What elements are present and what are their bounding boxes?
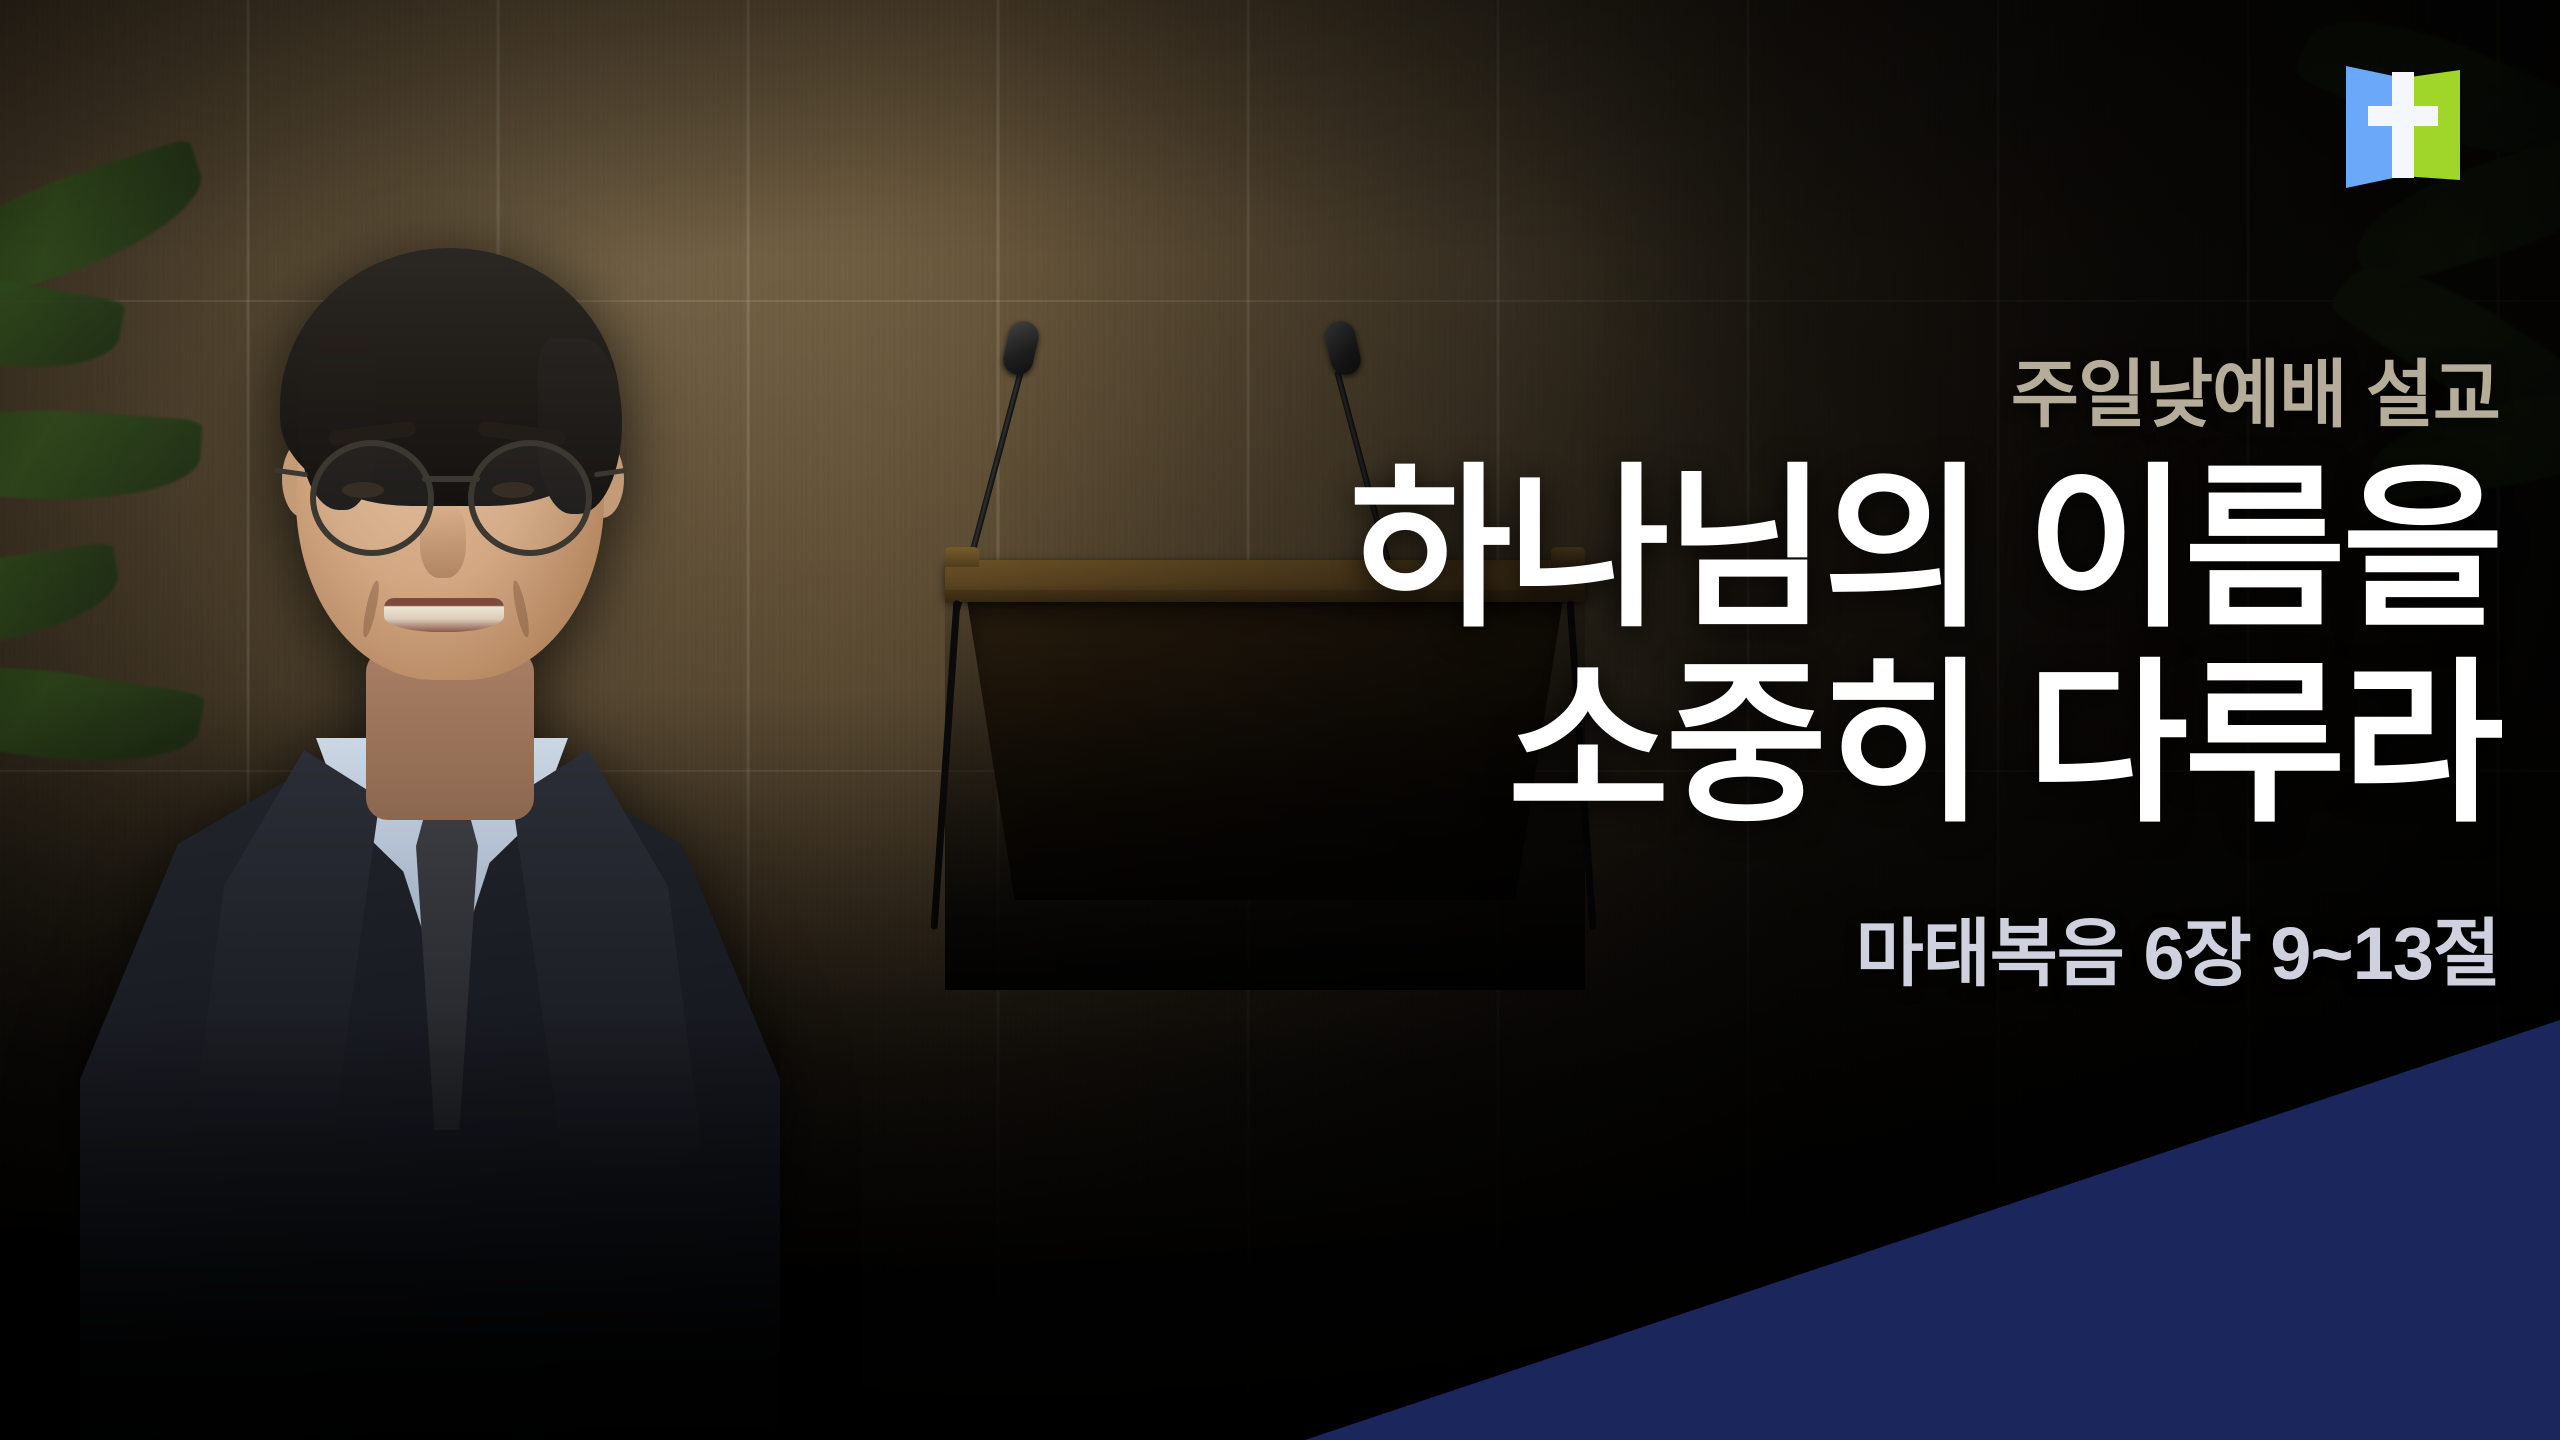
service-label: 주일낮예배 설교 bbox=[980, 356, 2500, 434]
open-bible-cross-logo[interactable] bbox=[2328, 48, 2478, 198]
bible-reference: 마태복음 6장 9~13절 bbox=[980, 894, 2500, 1001]
sermon-title-line-2: 소중히 다루라 bbox=[980, 655, 2500, 836]
sermon-thumbnail-canvas: 주일낮예배 설교 하나님의 이름을 소중히 다루라 마태복음 6장 9~13절 bbox=[0, 0, 2560, 1440]
eyeglasses bbox=[298, 440, 604, 552]
pastor-portrait bbox=[120, 110, 740, 1440]
sermon-title: 하나님의 이름을 소중히 다루라 bbox=[980, 460, 2500, 837]
sermon-copy-block: 주일낮예배 설교 하나님의 이름을 소중히 다루라 마태복음 6장 9~13절 bbox=[980, 356, 2500, 1001]
sermon-title-line-1: 하나님의 이름을 bbox=[980, 460, 2500, 641]
